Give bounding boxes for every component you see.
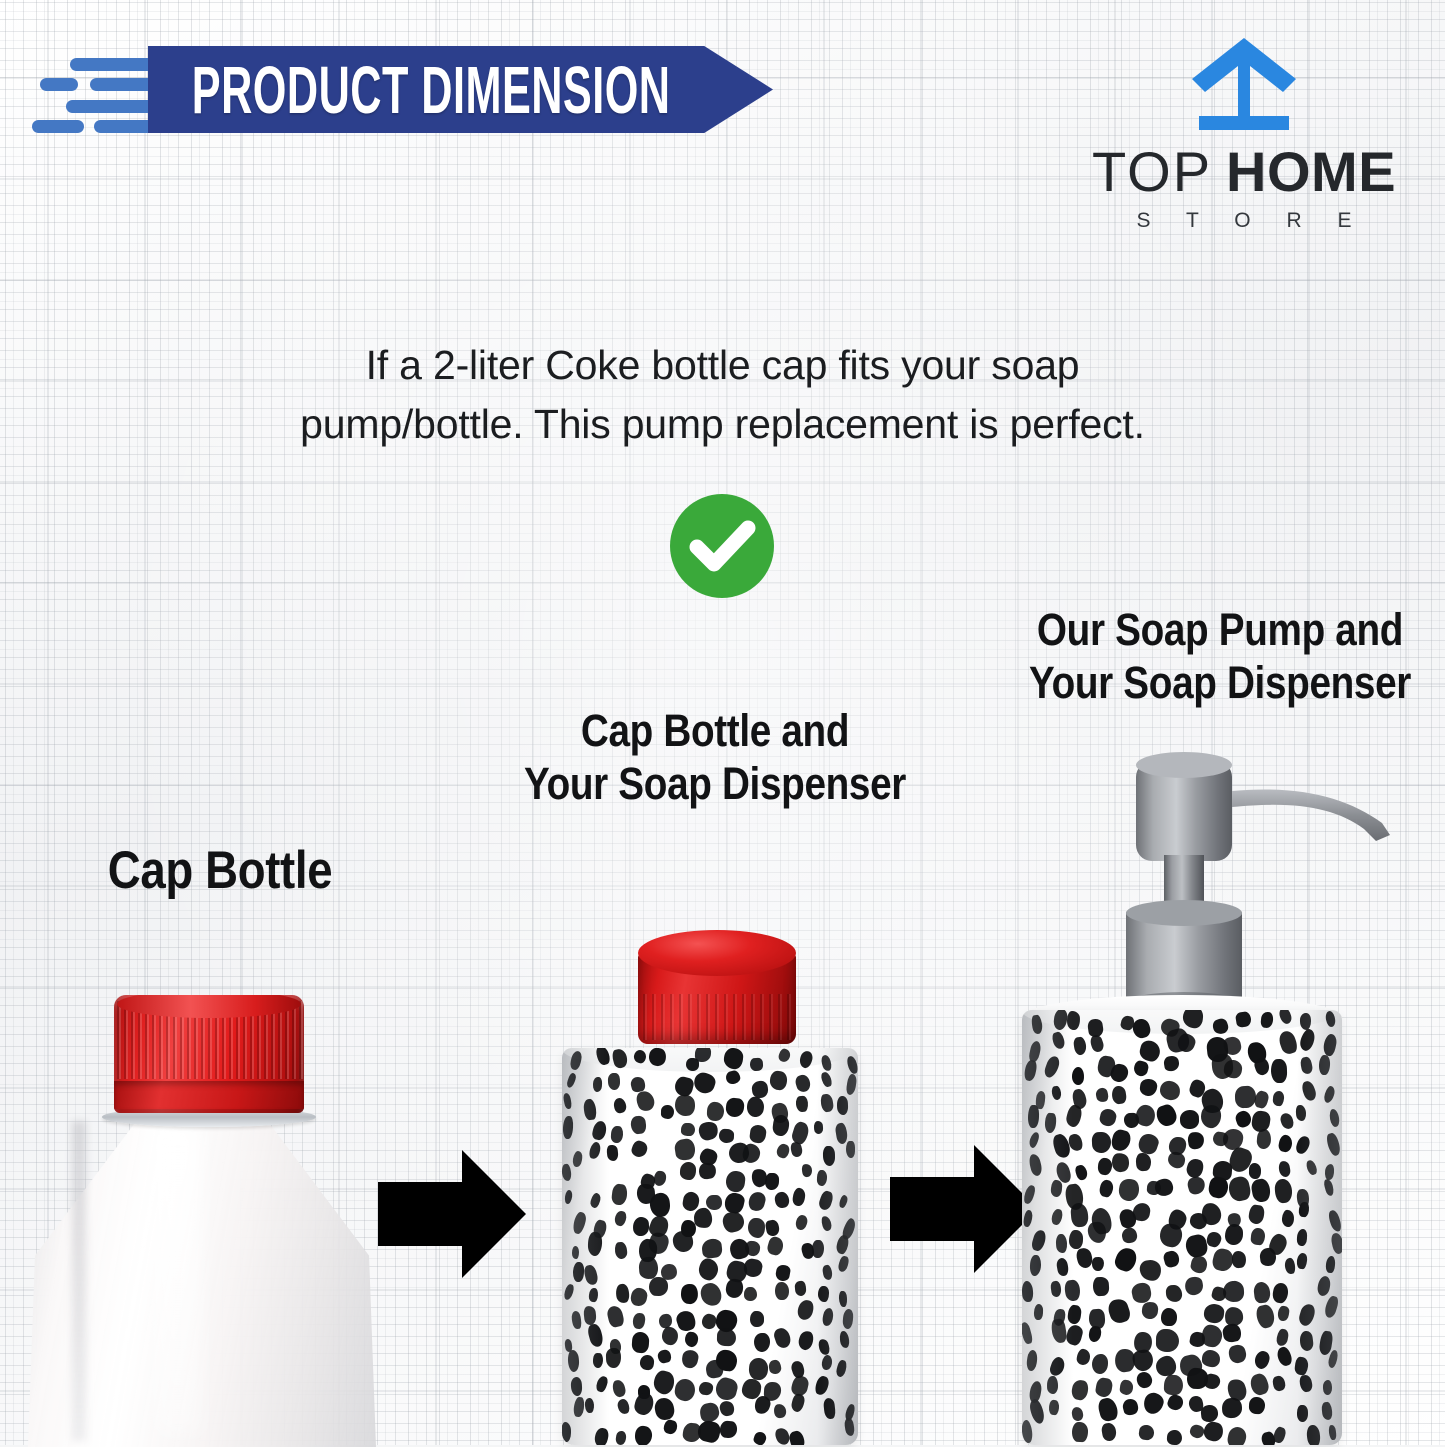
caption-cap-dispenser: Cap Bottle and Your Soap Dispenser xyxy=(522,704,909,810)
coke-bottle-edge xyxy=(72,1121,86,1441)
logo-wordmark: TOPHOME xyxy=(1069,144,1419,200)
logo-word-store: S T O R E xyxy=(1069,209,1419,233)
intro-line-2: pump/bottle. This pump replacement is pe… xyxy=(175,395,1270,454)
intro-description: If a 2-liter Coke bottle cap fits your s… xyxy=(175,336,1270,455)
caption-pump-dispenser: Our Soap Pump and Your Soap Dispenser xyxy=(1018,603,1422,709)
house-arrow-logo-icon xyxy=(1188,32,1300,132)
arrow-right-icon xyxy=(890,1145,1038,1273)
green-check-circle-icon xyxy=(668,492,776,600)
soap-dispenser-with-pump xyxy=(1022,1010,1342,1445)
logo-word-home: HOME xyxy=(1226,140,1396,203)
soap-dispenser-with-cap xyxy=(562,1048,858,1445)
polka-dot-pattern xyxy=(1022,1010,1342,1445)
product-dimension-banner: PRODUCT DIMENSION xyxy=(148,46,773,133)
caption-cap-bottle: Cap Bottle xyxy=(78,840,362,903)
coke-bottle-highlight xyxy=(154,1125,202,1435)
logo-word-top: TOP xyxy=(1092,140,1212,203)
cap-top-face xyxy=(638,930,796,976)
caption-right-line-2: Your Soap Dispenser xyxy=(1018,656,1422,709)
brand-logo: TOPHOME S T O R E xyxy=(1069,32,1419,233)
cap-ribs xyxy=(638,994,796,1040)
polka-dot-pattern xyxy=(562,1048,858,1445)
soap-dispenser-cap xyxy=(638,930,796,1062)
arrow-right-icon xyxy=(378,1150,526,1278)
banner-title: PRODUCT DIMENSION xyxy=(192,50,671,128)
caption-middle-line-1: Cap Bottle and xyxy=(522,704,909,757)
intro-line-1: If a 2-liter Coke bottle cap fits your s… xyxy=(175,336,1270,395)
caption-middle-line-2: Your Soap Dispenser xyxy=(522,757,909,810)
stainless-soap-pump-icon xyxy=(1114,745,1424,1035)
caption-right-line-1: Our Soap Pump and xyxy=(1018,603,1422,656)
coke-cap-band xyxy=(114,1081,304,1109)
coke-bottle-cap xyxy=(114,995,304,1113)
coke-bottle xyxy=(36,995,366,1445)
